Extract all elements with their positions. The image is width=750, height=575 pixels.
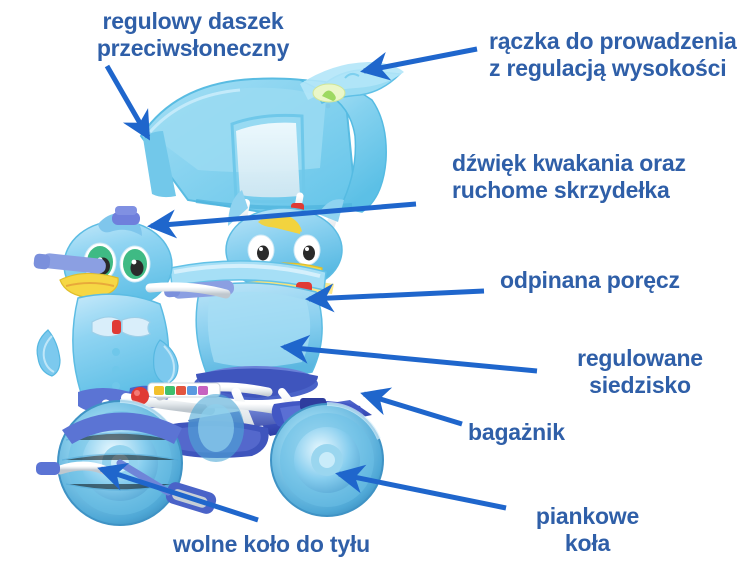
callout-label-canopy: regulowy daszek przeciwsłoneczny: [68, 8, 318, 62]
callout-label-luggage-basket: bagażnik: [468, 419, 648, 446]
annotated-product-image: regulowy daszek przeciwsłonecznyrączka d…: [0, 0, 750, 575]
callout-label-foam-wheels: piankowe koła: [500, 503, 675, 557]
callout-label-quack-sound-wings: dźwięk kwakania oraz ruchome skrzydełka: [452, 150, 732, 204]
callout-label-adjustable-seat: regulowane siedzisko: [540, 345, 740, 399]
callout-label-push-handle: rączka do prowadzenia z regulacją wysoko…: [489, 28, 749, 82]
callout-label-detachable-guardrail: odpinana poręcz: [500, 267, 730, 294]
callout-label-free-rear-wheel: wolne koło do tyłu: [173, 531, 453, 558]
callout-labels: regulowy daszek przeciwsłonecznyrączka d…: [0, 0, 750, 575]
